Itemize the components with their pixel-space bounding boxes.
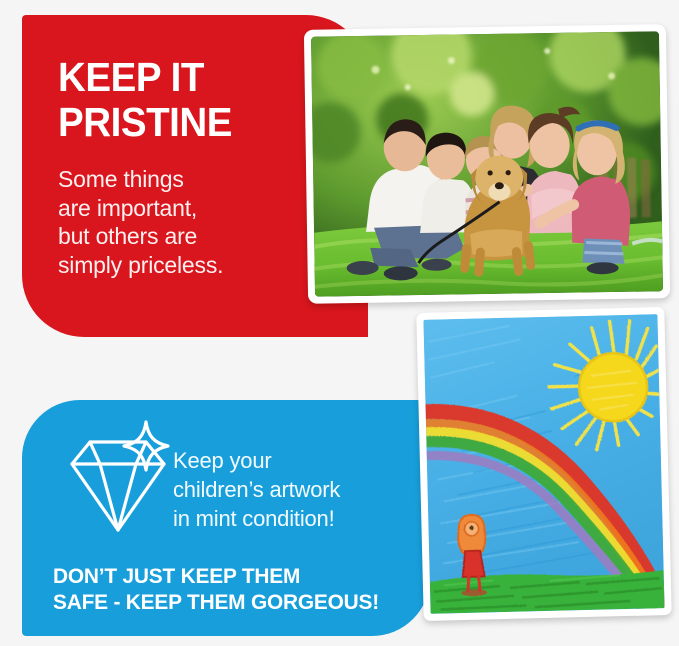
poster-canvas: KEEP IT PRISTINE Some things are importa… — [0, 0, 679, 646]
blue-feature-panel: Keep your children’s artwork in mint con… — [22, 400, 430, 636]
blue-body-line-1: Keep your — [173, 446, 433, 475]
page-title: KEEP IT PRISTINE — [58, 55, 340, 145]
childrens-crayon-drawing — [423, 314, 664, 614]
blue-body-line-2: children’s artwork — [173, 475, 433, 504]
family-photo-frame — [304, 24, 670, 304]
headline-line-2: PRISTINE — [58, 100, 340, 145]
childrens-artwork-frame — [416, 307, 671, 621]
diamond-sparkle-icon — [62, 418, 174, 540]
blue-body-line-3: in mint condition! — [173, 504, 433, 533]
blue-panel-body-text: Keep your children’s artwork in mint con… — [173, 446, 433, 533]
headline-line-1: KEEP IT — [58, 55, 340, 100]
tagline-line-2: SAFE - KEEP THEM GORGEOUS! — [53, 589, 422, 615]
tagline-line-1: DON’T JUST KEEP THEM — [53, 563, 422, 589]
family-with-dog-photo — [311, 31, 663, 296]
blue-panel-tagline: DON’T JUST KEEP THEM SAFE - KEEP THEM GO… — [53, 563, 422, 615]
